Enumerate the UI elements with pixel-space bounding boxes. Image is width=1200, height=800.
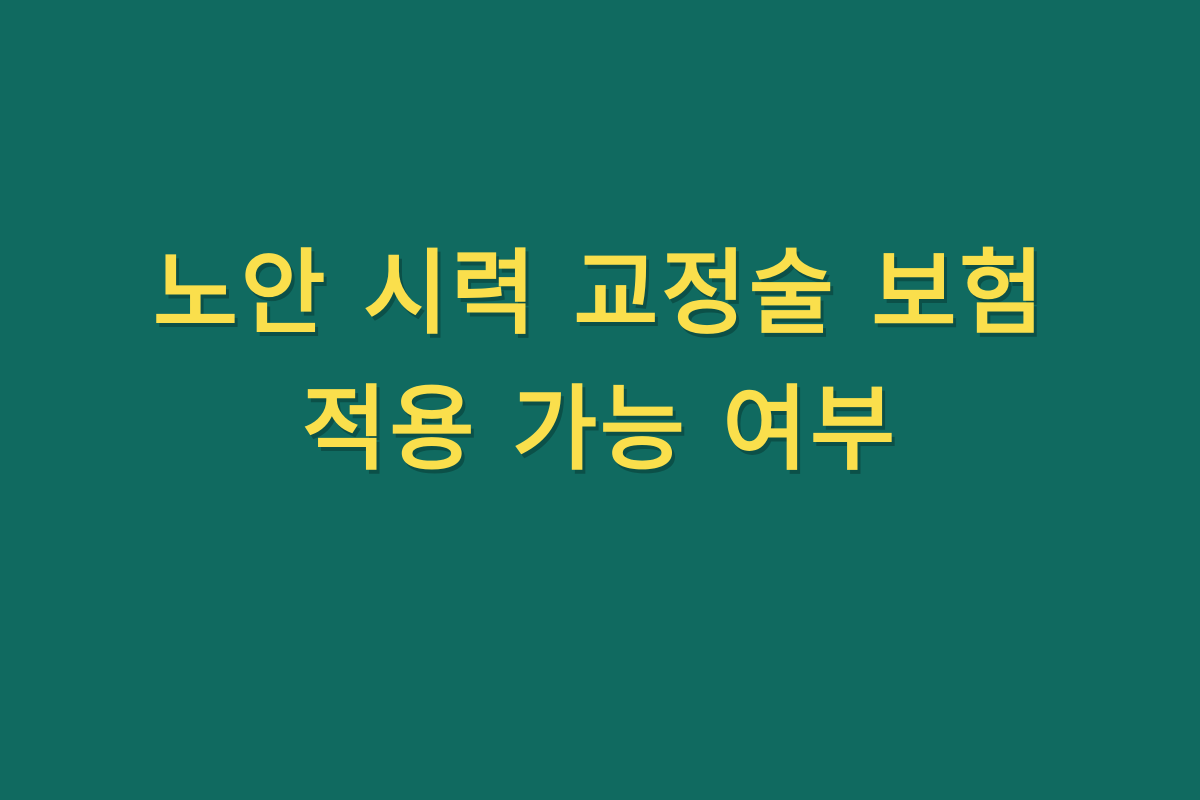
title-line-2: 적용 가능 여부 (0, 362, 1200, 498)
title-banner: 노안 시력 교정술 보험 적용 가능 여부 (0, 0, 1200, 800)
page-title: 노안 시력 교정술 보험 적용 가능 여부 (0, 226, 1200, 498)
title-line-1: 노안 시력 교정술 보험 (0, 226, 1200, 362)
